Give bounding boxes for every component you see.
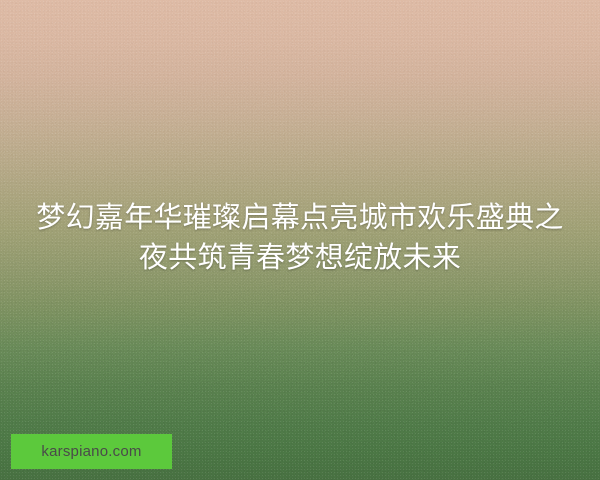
- headline-line-2: 夜共筑青春梦想绽放未来: [139, 242, 461, 274]
- headline-line-1: 梦幻嘉年华璀璨启幕点亮城市欢乐盛典之: [36, 202, 563, 234]
- image-canvas: 梦幻嘉年华璀璨启幕点亮城市欢乐盛典之夜共筑青春梦想绽放未来 karspiano.…: [0, 0, 600, 480]
- headline-text: 梦幻嘉年华璀璨启幕点亮城市欢乐盛典之夜共筑青春梦想绽放未来: [0, 198, 600, 278]
- watermark-label: karspiano.com: [41, 444, 141, 459]
- watermark-badge: karspiano.com: [11, 434, 172, 469]
